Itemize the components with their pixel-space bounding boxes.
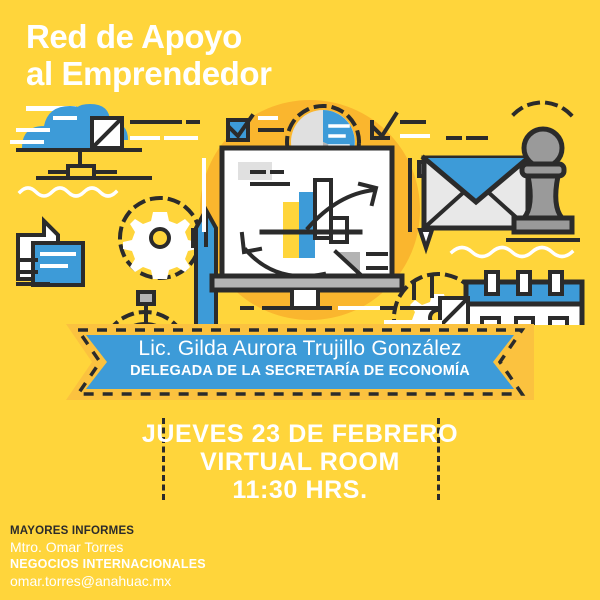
wave-line	[20, 188, 116, 196]
footer-email[interactable]: omar.torres@anahuac.mx	[10, 572, 330, 590]
event-details: JUEVES 23 DE FEBRERO VIRTUAL ROOM 11:30 …	[0, 420, 600, 504]
footer-heading: MAYORES INFORMES	[10, 524, 330, 539]
monitor-icon	[212, 148, 402, 308]
event-time: 11:30 HRS.	[0, 476, 600, 504]
event-date: JUEVES 23 DE FEBRERO	[0, 420, 600, 448]
footer-contact-name: Mtro. Omar Torres	[10, 539, 330, 556]
footer-department: NEGOCIOS INTERNACIONALES	[10, 556, 330, 572]
speaker-ribbon	[0, 318, 600, 418]
page-title: Red de Apoyo al Emprendedor	[26, 18, 446, 111]
envelope	[424, 138, 528, 228]
hero-illustration	[0, 100, 600, 325]
documents-icon	[18, 221, 83, 285]
poster-canvas: Red de Apoyo al Emprendedor	[0, 0, 600, 600]
title-line-2: al Emprendedor	[26, 55, 446, 92]
event-place: VIRTUAL ROOM	[0, 448, 600, 476]
image-placeholder-icon-top	[92, 118, 198, 148]
wave-line-right	[452, 248, 572, 257]
title-line-1: Red de Apoyo	[26, 18, 446, 55]
footer-contact: MAYORES INFORMES Mtro. Omar Torres NEGOC…	[10, 524, 330, 590]
ribbon-blue-banner	[86, 335, 514, 389]
